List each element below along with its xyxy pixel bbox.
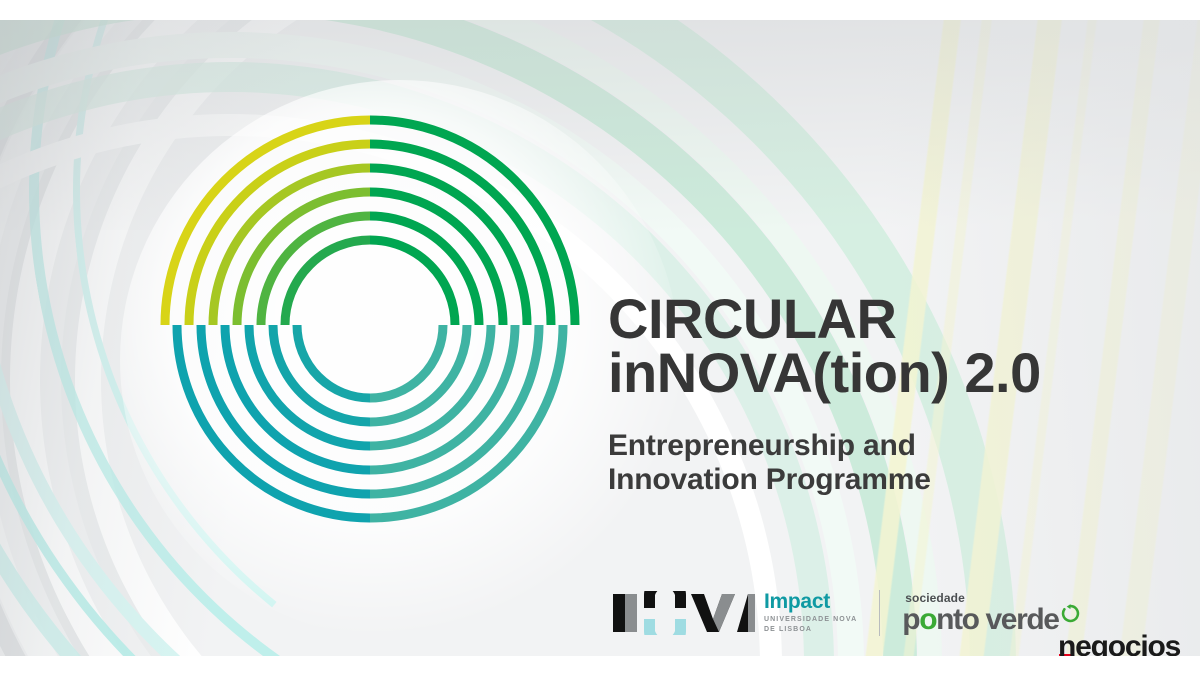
title-line-2: inNOVA(tion) 2.0: [608, 346, 1168, 400]
pv-part-1: p: [902, 605, 919, 635]
subtitle-line-2: Innovation Programme: [608, 463, 1168, 498]
sociedade-label: sociedade: [905, 592, 965, 604]
partner-logo-strip: Impact UNIVERSIDADE NOVA DE LISBOA socie…: [612, 590, 1080, 636]
subtitle-line-1: Entrepreneurship and: [608, 429, 916, 462]
logo-divider: [879, 590, 880, 636]
page-title: CIRCULAR inNOVA(tion) 2.0: [608, 292, 1168, 401]
ponto-verde-wordmark: p o nto verde: [902, 605, 1079, 635]
pv-part-3: nto verde: [936, 605, 1058, 635]
nova-impact-text: Impact UNIVERSIDADE NOVA DE LISBOA: [764, 591, 857, 635]
sociedade-ponto-verde-logo: sociedade p o nto verde: [902, 592, 1079, 635]
negocios-wordmark-wrap: negocios: [1058, 632, 1180, 656]
negocios-logo: negocios: [1058, 632, 1198, 656]
headline-block: CIRCULAR inNOVA(tion) 2.0 Entrepreneursh…: [608, 292, 1168, 498]
letterbox-top: [0, 0, 1200, 20]
nova-wordmark-icon: [612, 591, 755, 635]
recycle-arrow-icon: [1061, 604, 1080, 623]
university-line-2: DE LISBOA: [764, 625, 857, 634]
negocios-wordmark: negocios: [1058, 630, 1180, 656]
circular-spiral-logo-icon: [155, 110, 585, 540]
poster-canvas: CIRCULAR inNOVA(tion) 2.0 Entrepreneursh…: [0, 0, 1200, 676]
university-line-1: UNIVERSIDADE NOVA: [764, 616, 857, 623]
artwork-band: CIRCULAR inNOVA(tion) 2.0 Entrepreneursh…: [0, 20, 1200, 656]
page-subtitle: Entrepreneurship and Innovation Programm…: [608, 429, 1168, 499]
impact-label: Impact: [764, 591, 857, 612]
university-label: UNIVERSIDADE NOVA DE LISBOA: [764, 615, 857, 634]
pv-part-2: o: [919, 605, 936, 635]
nova-impact-logo: Impact UNIVERSIDADE NOVA DE LISBOA: [612, 591, 857, 635]
letterbox-bottom: [0, 656, 1200, 676]
